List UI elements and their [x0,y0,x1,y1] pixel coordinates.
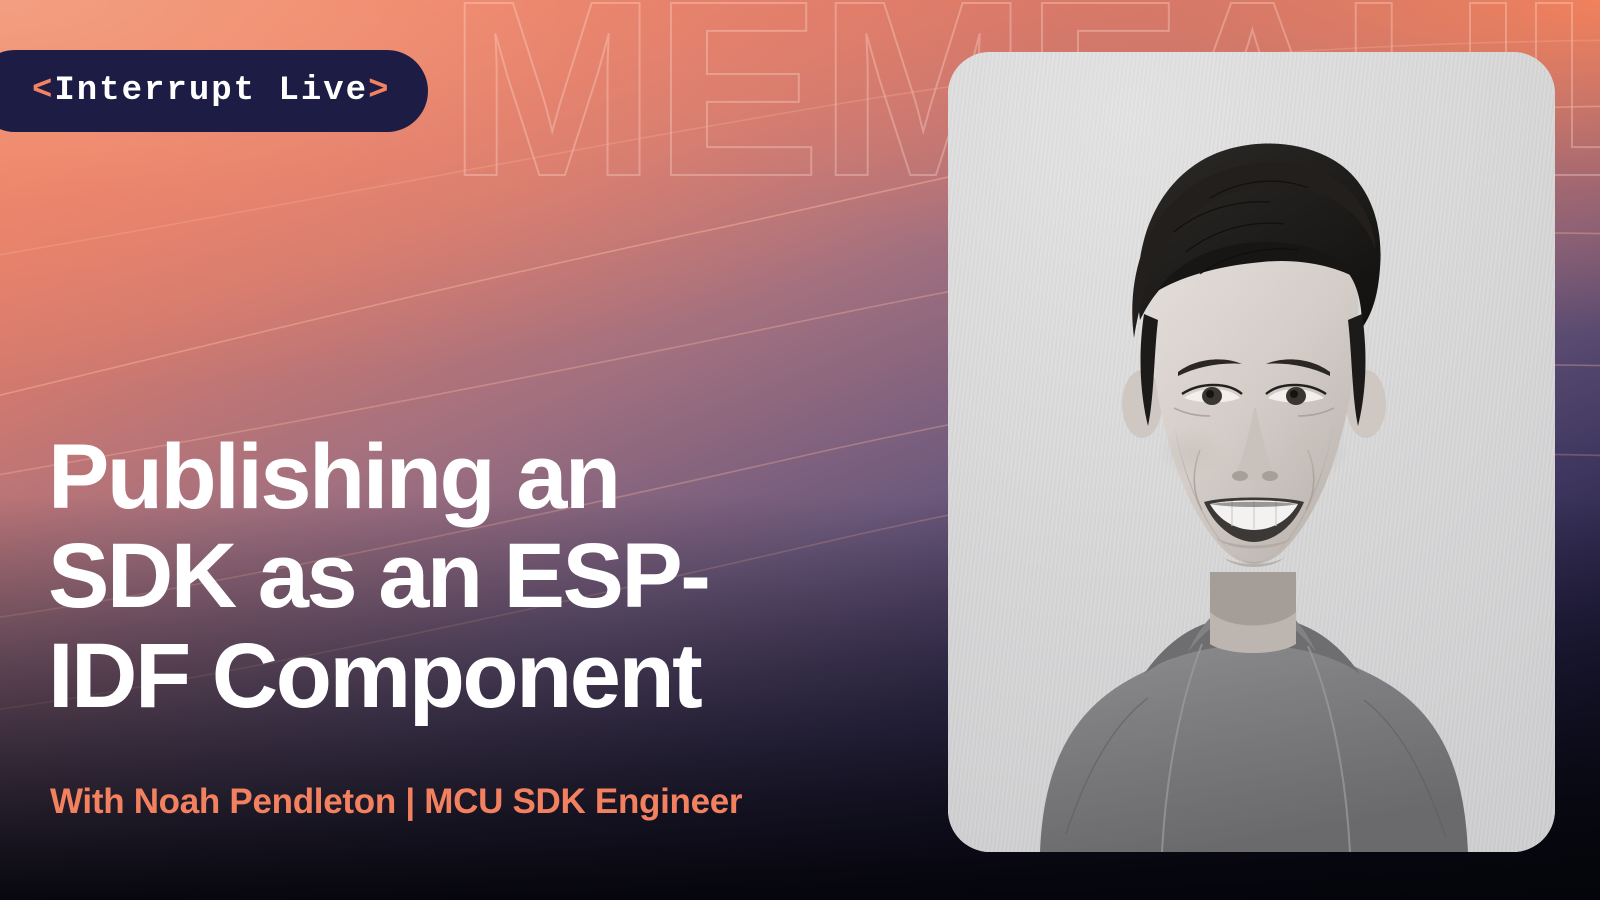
title-line-1: Publishing an [48,428,848,527]
badge-label: Interrupt Live [54,72,368,110]
badge-close-bracket: > [368,72,390,110]
speaker-subtitle: With Noah Pendleton | MCU SDK Engineer [50,782,742,822]
interrupt-live-badge: < Interrupt Live > [0,50,428,132]
speaker-photo-card [948,52,1555,852]
badge-open-bracket: < [32,72,54,110]
speaker-portrait [948,52,1555,852]
title-line-2: SDK as an ESP- [48,527,848,626]
title-line-3: IDF Component [48,627,848,726]
promo-banner: MEMFAULT < Interrupt Live > Publishing a… [0,0,1600,900]
page-title: Publishing an SDK as an ESP- IDF Compone… [48,428,848,726]
